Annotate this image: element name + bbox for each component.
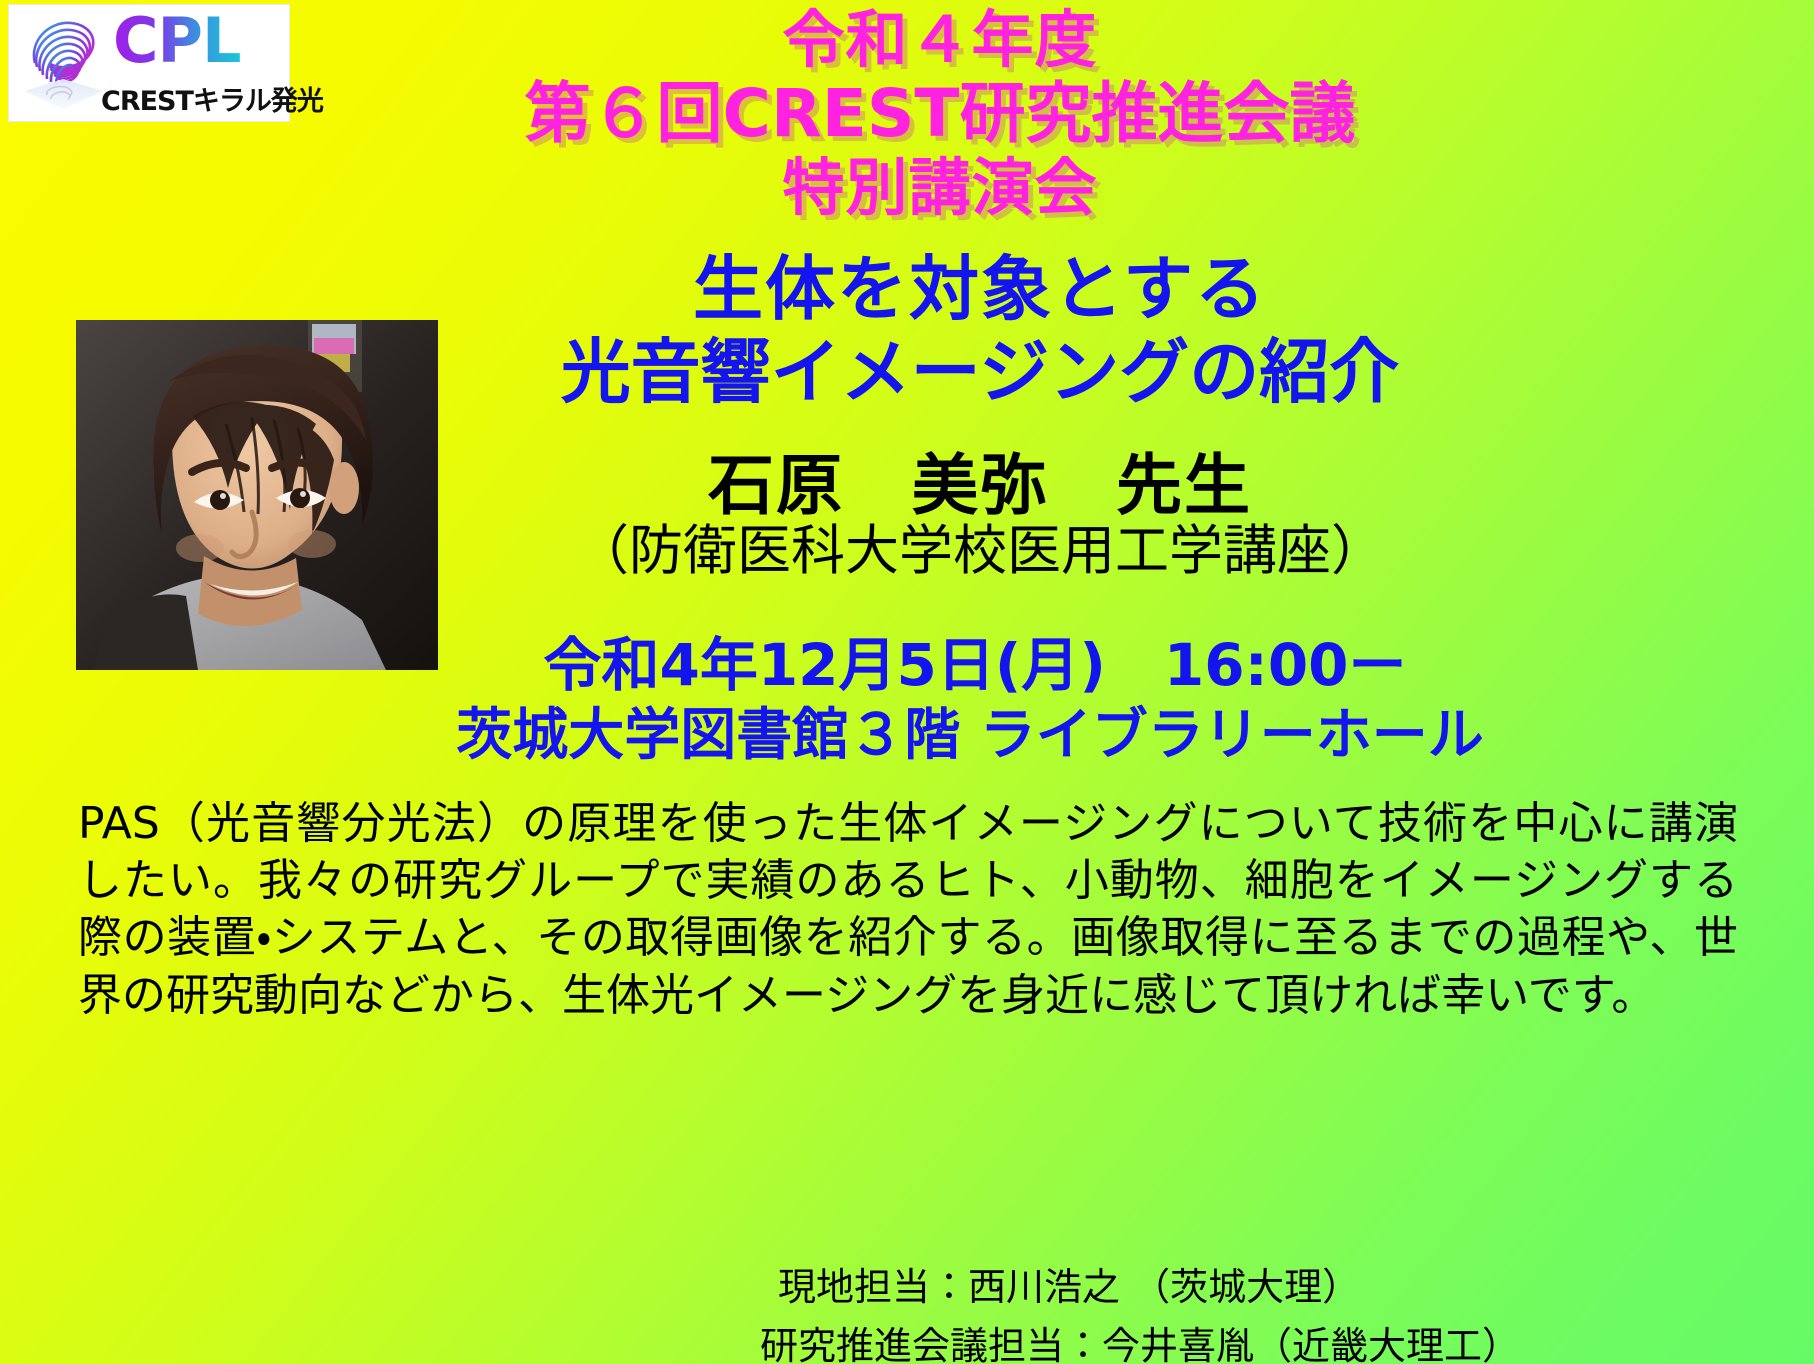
local-contact-line: 現地担当：西川浩之 （茨城大理） — [760, 1258, 1720, 1317]
heading-line-meeting-name: 第６回CREST研究推進会議 — [360, 76, 1520, 153]
cpl-logo-subtitle: CRESTキラル発光 — [101, 79, 323, 118]
contact-footer: 現地担当：西川浩之 （茨城大理） 研究推進会議担当：今井喜胤（近畿大理工） — [760, 1258, 1720, 1364]
poster-root: CPL CRESTキラル発光 令和４年度 第６回CREST研究推進会議 特別講演… — [0, 0, 1814, 1364]
speaker-affiliation: （防衛医科大学校医用工学講座） — [400, 506, 1560, 585]
talk-title-line2: 光音響イメージングの紹介 — [400, 331, 1560, 414]
abstract-text: PAS（光音響分光法）の原理を使った生体イメージングについて技術を中心に講演した… — [78, 795, 1738, 1024]
event-heading: 令和４年度 第６回CREST研究推進会議 特別講演会 — [360, 4, 1520, 224]
meeting-contact-line: 研究推進会議担当：今井喜胤（近畿大理工） — [760, 1317, 1720, 1364]
talk-title: 生体を対象とする 光音響イメージングの紹介 — [400, 248, 1560, 413]
event-venue: 茨城大学図書館３階 ライブラリーホール — [340, 690, 1600, 771]
abstract-section: PAS（光音響分光法）の原理を使った生体イメージングについて技術を中心に講演した… — [78, 795, 1738, 1024]
shell-spiral-icon — [15, 11, 111, 115]
heading-line-special-lecture: 特別講演会 — [360, 152, 1520, 224]
talk-title-line1: 生体を対象とする — [400, 248, 1560, 331]
cpl-wordmark: CPL — [113, 5, 240, 77]
heading-line-fiscal-year: 令和４年度 — [360, 4, 1520, 76]
cpl-logo: CPL CRESTキラル発光 — [8, 4, 290, 122]
